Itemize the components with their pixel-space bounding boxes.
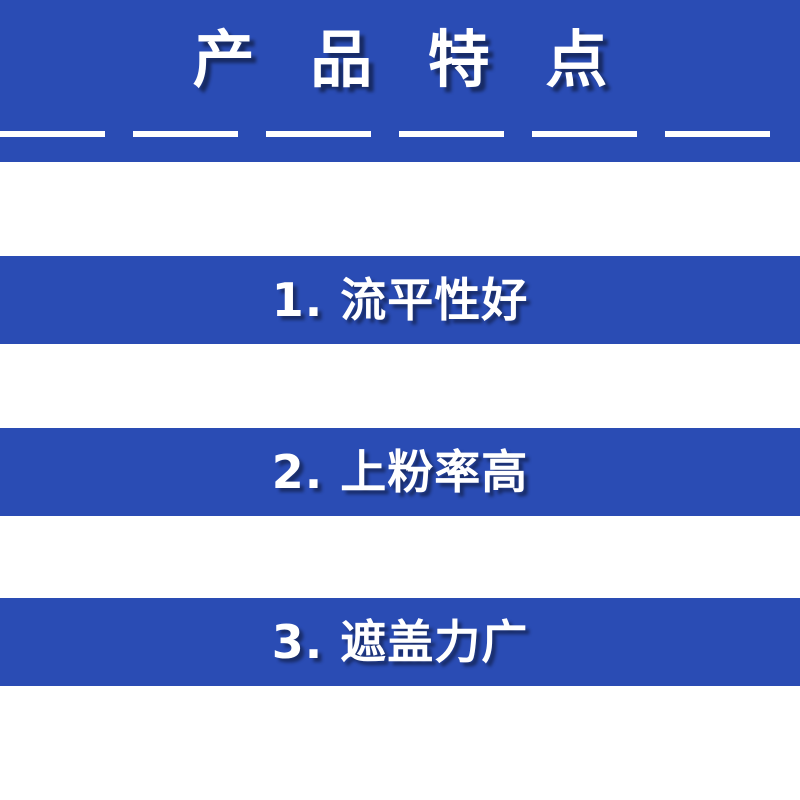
divider-dash (399, 131, 504, 137)
divider-dash (532, 131, 637, 137)
feature-band-1: 1. 流平性好 (0, 256, 800, 344)
feature-band-2: 2. 上粉率高 (0, 428, 800, 516)
divider-dash (266, 131, 371, 137)
feature-label-1: 1. 流平性好 (0, 256, 800, 344)
divider-dash (0, 131, 105, 137)
header-banner: 产 品 特 点 (0, 0, 800, 162)
feature-label-3: 3. 遮盖力广 (0, 598, 800, 686)
product-features-poster: 产 品 特 点 1. 流平性好 2. 上粉率高 3. 遮盖力广 (0, 0, 800, 800)
feature-band-3: 3. 遮盖力广 (0, 598, 800, 686)
page-title: 产 品 特 点 (0, 20, 800, 100)
feature-label-2: 2. 上粉率高 (0, 428, 800, 516)
header-dashed-divider (0, 131, 800, 137)
divider-dash (665, 131, 770, 137)
divider-dash (133, 131, 238, 137)
